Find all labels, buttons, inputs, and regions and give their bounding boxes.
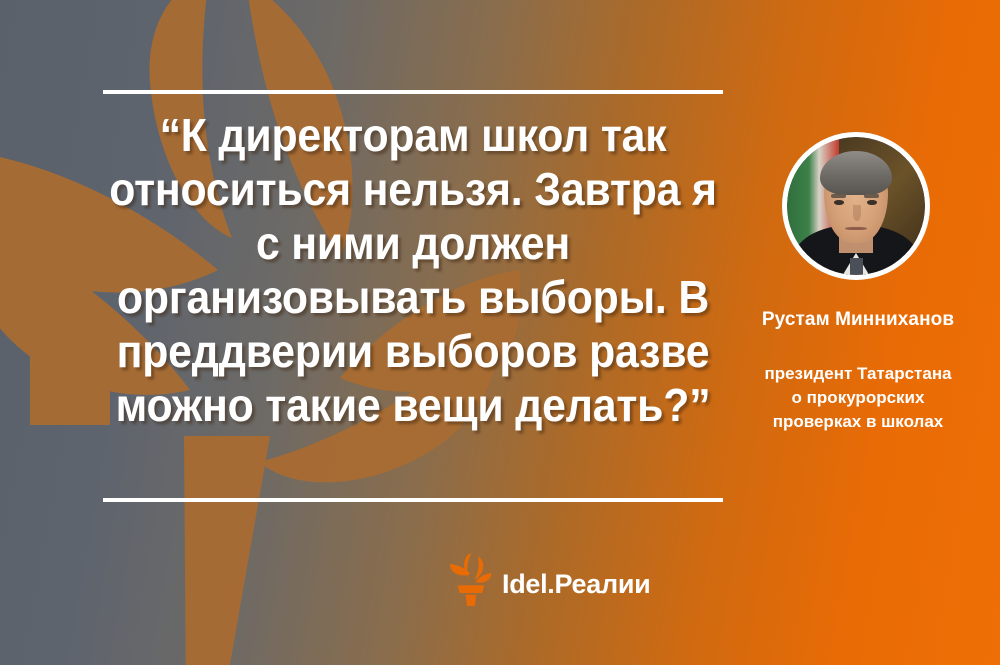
divider-top [103,90,723,94]
quote-line: “К директорам школ так [83,108,743,162]
quote-line: относиться нельзя. Завтра я [83,162,743,216]
person-role-line: о прокурорских [733,386,983,410]
portrait-nose [853,205,861,222]
person-name: Рустам Минниханов [735,308,981,332]
portrait-eye-left [834,200,844,205]
person-role-line: проверках в школах [733,410,983,434]
avatar [782,132,930,280]
portrait-photo [787,137,925,275]
person-role: президент Татарстана о прокурорских пров… [733,362,983,434]
logo-text: Idel.Реалии [502,561,650,598]
torch-flame-icon [448,552,494,606]
quote-line: организовывать выборы. В [83,270,743,324]
quote-text: “К директорам школ так относиться нельзя… [83,108,743,432]
portrait-tie [850,258,862,275]
quote-line: с ними должен [83,216,743,270]
portrait-brow-left [831,194,846,198]
quote-line: преддверии выборов разве [83,324,743,378]
portrait-eye-right [867,200,877,205]
site-logo[interactable]: Idel.Реалии [448,552,650,606]
person-role-line: президент Татарстана [733,362,983,386]
portrait-brow-right [864,194,879,198]
divider-bottom [103,498,723,502]
quote-line: можно такие вещи делать?” [83,378,743,432]
quote-card: “К директорам школ так относиться нельзя… [0,0,1000,665]
